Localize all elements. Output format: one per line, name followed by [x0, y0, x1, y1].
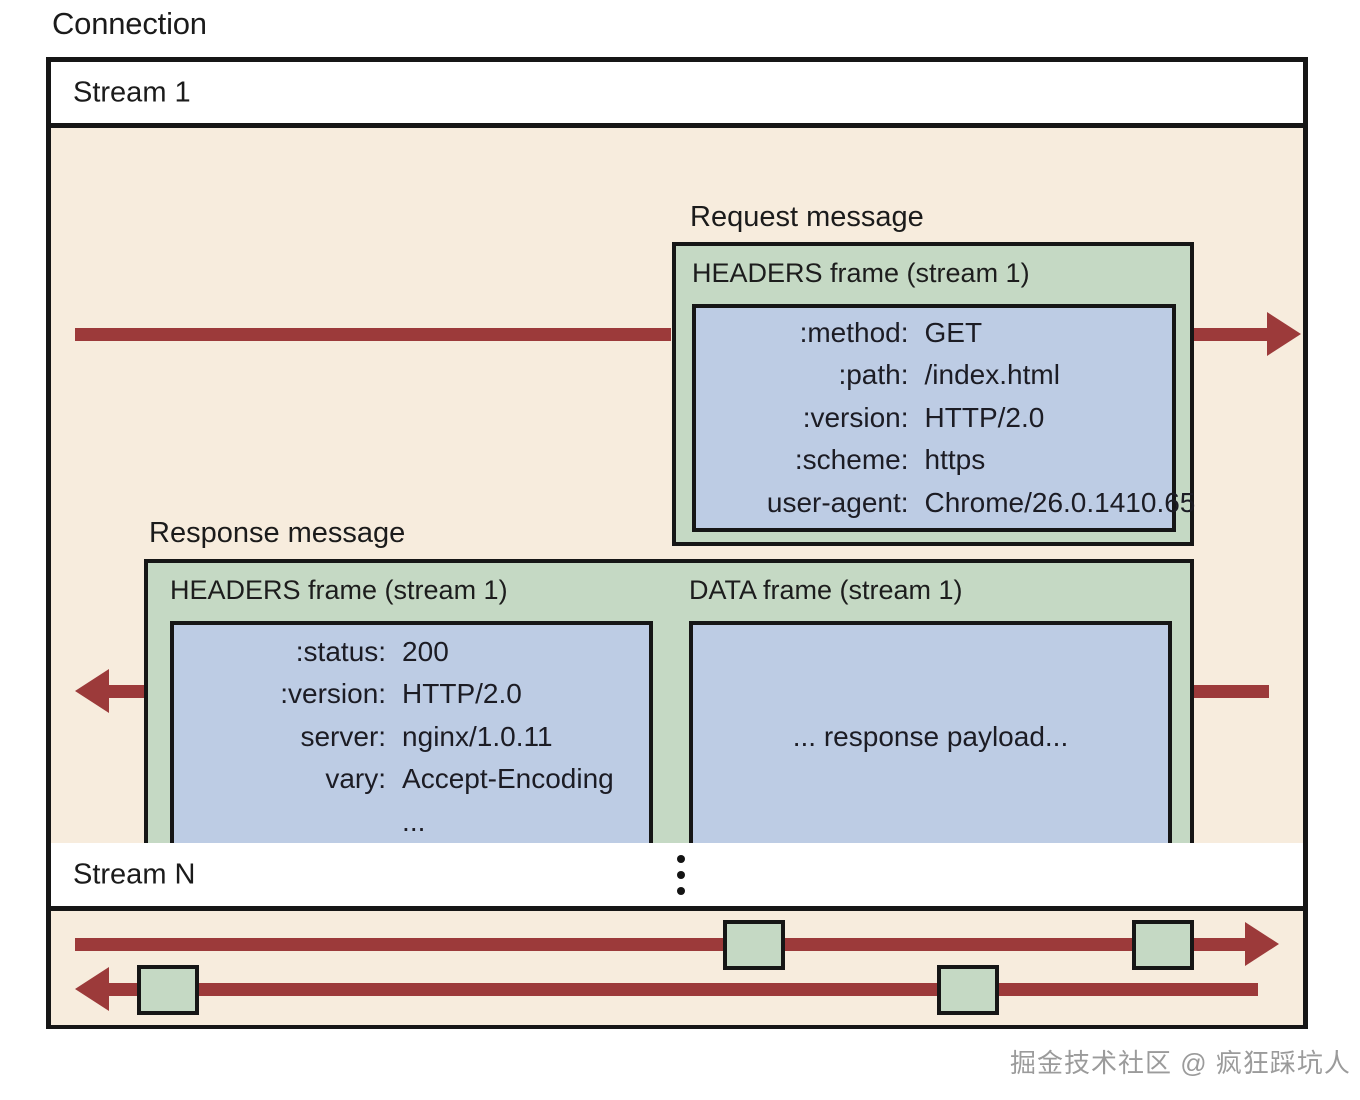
connection-box: Stream 1 Request message HEADERS frame (… — [46, 57, 1308, 1029]
header-key: :scheme: — [696, 439, 925, 482]
header-value: Accept-Encoding — [402, 758, 635, 801]
response-data-frame-title: DATA frame (stream 1) — [689, 575, 963, 606]
header-row: server: nginx/1.0.11 — [174, 716, 635, 759]
stream-n-outbound-frame-chip — [1132, 920, 1194, 970]
header-row: user-agent: Chrome/26.0.1410.65 — [696, 482, 1158, 525]
watermark: 掘金技术社区 @ 疯狂踩坑人 — [1010, 1043, 1351, 1080]
header-key: user-agent: — [696, 482, 925, 525]
header-key: :version: — [174, 673, 402, 716]
response-arrow-line-left — [108, 685, 144, 698]
request-headers-list: :method: GET :path: /index.html :version… — [696, 308, 1172, 528]
response-payload-text: ... response payload... — [693, 721, 1168, 753]
stream-n-outbound-arrow-head — [1245, 922, 1279, 966]
stream-n-inbound-arrow-head — [75, 967, 109, 1011]
header-row: :scheme: https — [696, 439, 1158, 482]
request-arrow-line-right — [1194, 328, 1269, 341]
response-headers-list: :status: 200 :version: HTTP/2.0 server: … — [174, 625, 649, 849]
header-value: HTTP/2.0 — [402, 673, 635, 716]
response-arrow-head — [75, 669, 109, 713]
stream-1-header-band: Stream 1 — [51, 62, 1303, 128]
request-arrow-line-left — [75, 328, 671, 341]
vertical-ellipsis-icon — [677, 855, 685, 895]
response-headers-payload: :status: 200 :version: HTTP/2.0 server: … — [170, 621, 653, 853]
header-value: ... — [402, 801, 635, 844]
header-value: nginx/1.0.11 — [402, 716, 635, 759]
header-row: :version: HTTP/2.0 — [174, 673, 635, 716]
header-value: https — [925, 439, 1158, 482]
response-data-payload: ... response payload... — [689, 621, 1172, 853]
stream-n-label: Stream N — [73, 858, 195, 891]
response-headers-frame-title: HEADERS frame (stream 1) — [170, 575, 508, 606]
header-value: 200 — [402, 631, 635, 674]
stream-n-inbound-frame-chip — [137, 965, 199, 1015]
header-key: server: — [174, 716, 402, 759]
stream-n-inbound-frame-chip — [937, 965, 999, 1015]
request-message-caption: Request message — [690, 201, 924, 234]
header-row: :version: HTTP/2.0 — [696, 397, 1158, 440]
stream-1-label: Stream 1 — [73, 76, 191, 109]
stream-n-body — [51, 911, 1303, 1025]
request-headers-frame: HEADERS frame (stream 1) :method: GET :p… — [672, 242, 1194, 546]
stream-1-body: Request message HEADERS frame (stream 1)… — [51, 128, 1303, 843]
header-row-ellipsis: ... — [174, 801, 635, 844]
header-row: :status: 200 — [174, 631, 635, 674]
header-value: /index.html — [925, 354, 1158, 397]
request-headers-payload: :method: GET :path: /index.html :version… — [692, 304, 1176, 532]
header-key: :status: — [174, 631, 402, 674]
header-key: :path: — [696, 354, 925, 397]
header-value: GET — [925, 312, 1158, 355]
response-arrow-line-right — [1194, 685, 1269, 698]
header-value: HTTP/2.0 — [925, 397, 1158, 440]
http2-multiplexing-diagram: Connection Stream 1 Request message HEAD… — [0, 0, 1360, 1100]
connection-label: Connection — [52, 6, 207, 42]
header-row: :path: /index.html — [696, 354, 1158, 397]
header-value: Chrome/26.0.1410.65 — [925, 482, 1196, 525]
header-key: :method: — [696, 312, 925, 355]
header-row: vary: Accept-Encoding — [174, 758, 635, 801]
header-row: :method: GET — [696, 312, 1158, 355]
response-frames-group: HEADERS frame (stream 1) :status: 200 :v… — [144, 559, 1194, 877]
header-key: :version: — [696, 397, 925, 440]
request-headers-frame-title: HEADERS frame (stream 1) — [692, 258, 1030, 289]
request-arrow-head — [1267, 312, 1301, 356]
stream-n-outbound-frame-chip — [723, 920, 785, 970]
stream-n-inbound-arrow-line — [108, 983, 1258, 996]
header-key: vary: — [174, 758, 402, 801]
response-message-caption: Response message — [149, 517, 405, 550]
stream-n-header-band: Stream N — [51, 843, 1303, 911]
stream-n-outbound-arrow-line — [75, 938, 1258, 951]
